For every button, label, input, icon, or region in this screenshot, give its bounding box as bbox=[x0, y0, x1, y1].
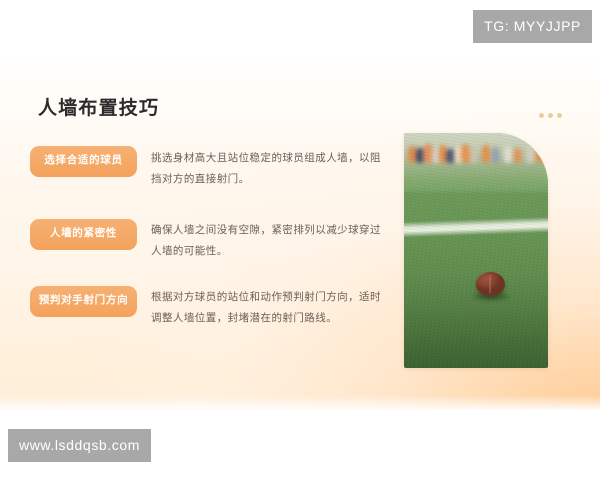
tips-list: 选择合适的球员 挑选身材高大且站位稳定的球员组成人墙，以阻挡对方的直接射门。 人… bbox=[30, 146, 385, 329]
tip-description-1: 挑选身材高大且站位稳定的球员组成人墙，以阻挡对方的直接射门。 bbox=[137, 146, 385, 190]
decorative-dots bbox=[539, 113, 562, 118]
football-icon bbox=[476, 272, 505, 296]
list-item: 人墙的紧密性 确保人墙之间没有空隙，紧密排列以减少球穿过人墙的可能性。 bbox=[30, 219, 385, 262]
football-lace bbox=[489, 275, 491, 293]
list-item: 选择合适的球员 挑选身材高大且站位稳定的球员组成人墙，以阻挡对方的直接射门。 bbox=[30, 146, 385, 190]
list-item: 预判对手射门方向 根据对方球员的站位和动作预判射门方向，适时调整人墙位置，封堵潜… bbox=[30, 286, 385, 329]
slide-screenshot: 人墙布置技巧 选择合适的球员 挑选身材高大且站位稳定的球员组成人墙，以阻挡对方的… bbox=[0, 0, 600, 480]
football-photo bbox=[404, 133, 548, 368]
telegram-watermark: TG: MYYJJPP bbox=[473, 10, 592, 43]
tip-badge-1: 选择合适的球员 bbox=[30, 146, 137, 177]
tip-description-3: 根据对方球员的站位和动作预判射门方向，适时调整人墙位置，封堵潜在的射门路线。 bbox=[137, 286, 385, 329]
decorative-dot bbox=[539, 113, 544, 118]
website-watermark: www.lsddqsb.com bbox=[8, 429, 151, 462]
page-title: 人墙布置技巧 bbox=[38, 93, 159, 120]
tip-badge-3: 预判对手射门方向 bbox=[30, 286, 137, 317]
tip-badge-2: 人墙的紧密性 bbox=[30, 219, 137, 250]
slide-bottom-fade bbox=[0, 395, 600, 413]
decorative-dot bbox=[548, 113, 553, 118]
tip-description-2: 确保人墙之间没有空隙，紧密排列以减少球穿过人墙的可能性。 bbox=[137, 219, 385, 262]
decorative-dot bbox=[557, 113, 562, 118]
